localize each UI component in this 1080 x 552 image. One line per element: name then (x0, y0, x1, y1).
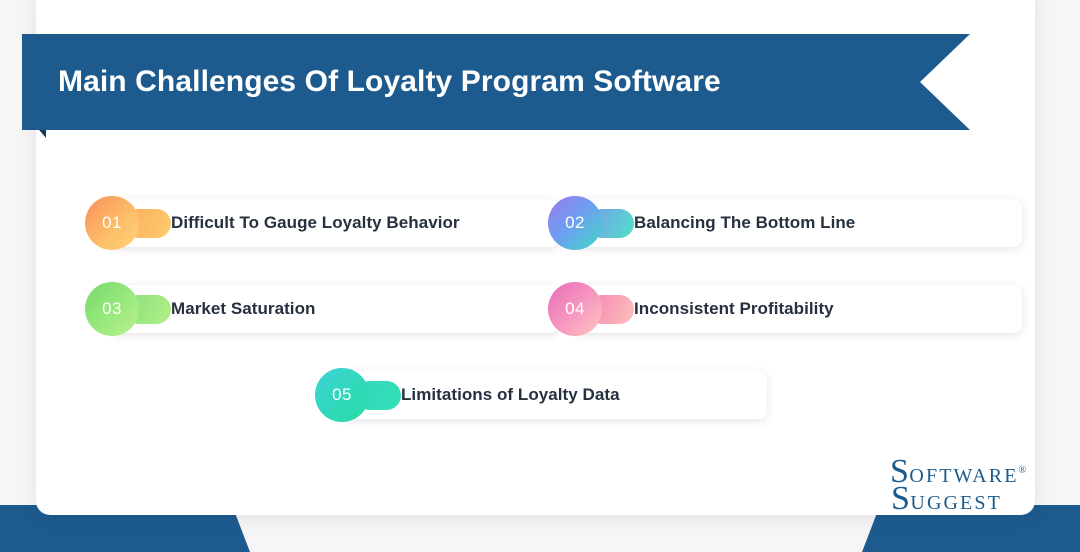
list-item-card[interactable]: Inconsistent Profitability (574, 285, 1022, 333)
logo-word-software: OFTWARE (909, 466, 1018, 486)
logo-initial-s-second: S (891, 482, 909, 516)
list-item-number: 03 (102, 299, 122, 319)
list-item-number-badge: 05 (315, 368, 369, 422)
list-item-number-badge: 01 (85, 196, 139, 250)
list-item-number: 05 (332, 385, 352, 405)
list-item-number-badge: 04 (548, 282, 602, 336)
list-item-card[interactable]: Difficult To Gauge Loyalty Behavior (111, 199, 559, 247)
list-item-card[interactable]: Limitations of Loyalty Data (341, 371, 767, 419)
list-item-number-badge: 03 (85, 282, 139, 336)
list-item-number: 02 (565, 213, 585, 233)
list-item-number: 04 (565, 299, 585, 319)
logo-word-suggest: UGGEST (910, 493, 1002, 513)
logo-line-two: S UGGEST (891, 482, 1026, 516)
list-item-label: Difficult To Gauge Loyalty Behavior (171, 213, 460, 233)
list-item-card[interactable]: Balancing The Bottom Line (574, 199, 1022, 247)
list-item-number-badge: 02 (548, 196, 602, 250)
list-item-label: Limitations of Loyalty Data (401, 385, 620, 405)
list-item-card[interactable]: Market Saturation (111, 285, 559, 333)
list-item-label: Market Saturation (171, 299, 315, 319)
list-item-number: 01 (102, 213, 122, 233)
infographic-canvas: Main Challenges Of Loyalty Program Softw… (0, 0, 1080, 552)
list-item-label: Inconsistent Profitability (634, 299, 834, 319)
list-item-label: Balancing The Bottom Line (634, 213, 855, 233)
logo-line-one: S OFTWARE ® (890, 455, 1026, 489)
registered-trademark-icon: ® (1019, 466, 1027, 476)
softwaresuggest-logo[interactable]: S OFTWARE ® S UGGEST (890, 455, 1026, 516)
